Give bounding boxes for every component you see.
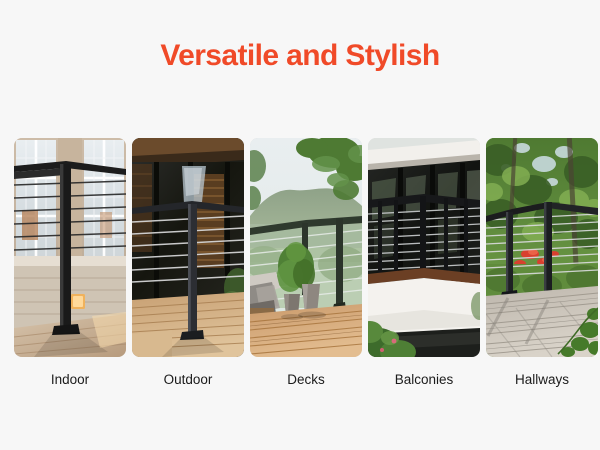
gallery-item-decks[interactable]: Decks [250,138,362,389]
gallery-item-label: Balconies [395,371,454,389]
gallery-item-label: Outdoor [164,371,213,389]
gallery-item-balconies[interactable]: Balconies [368,138,480,389]
balcony-cable-railing-photo[interactable] [368,138,480,357]
use-case-gallery: Indoor [14,138,586,389]
gallery-item-indoor[interactable]: Indoor [14,138,126,389]
indoor-cable-railing-photo[interactable] [14,138,126,357]
gallery-item-label: Hallways [515,371,569,389]
deck-cable-railing-photo[interactable] [250,138,362,357]
versatile-and-stylish-section: Versatile and Stylish [0,0,600,450]
hallway-cable-railing-photo[interactable] [486,138,598,357]
gallery-item-label: Indoor [51,371,89,389]
gallery-item-outdoor[interactable]: Outdoor [132,138,244,389]
page-title: Versatile and Stylish [160,38,439,74]
gallery-item-label: Decks [287,371,325,389]
outdoor-cable-railing-photo[interactable] [132,138,244,357]
gallery-item-hallways[interactable]: Hallways [486,138,598,389]
